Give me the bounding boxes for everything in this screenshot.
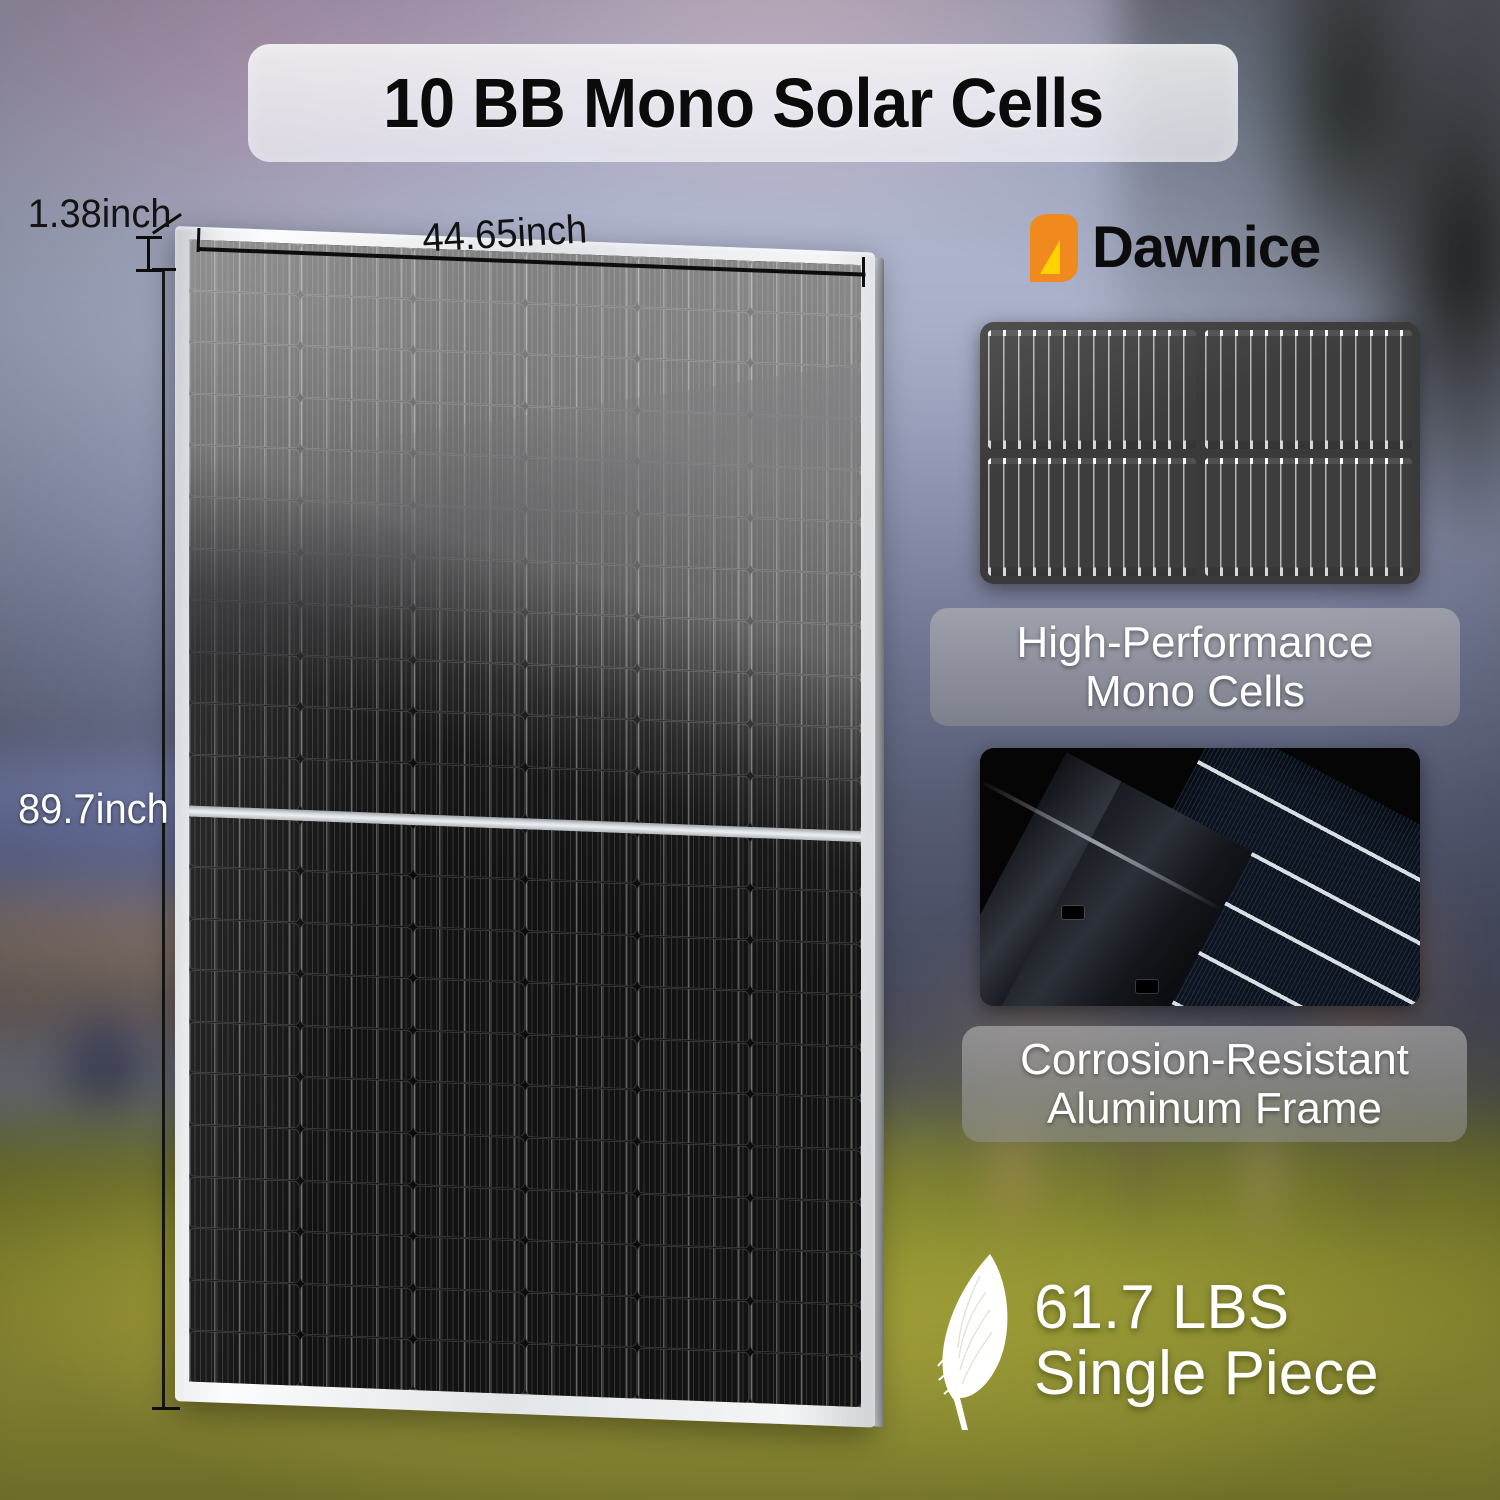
solar-cell [526,984,636,1038]
cell-column [638,833,748,1403]
solar-cell [526,613,636,667]
solar-cell [751,777,861,831]
solar-cell [638,618,748,672]
solar-cell [638,885,748,939]
solar-cell [526,665,636,719]
solar-cell [189,498,299,552]
weight-text: 61.7 LBS Single Piece [1034,1275,1379,1406]
solar-cell [189,816,299,870]
cell-column [414,825,524,1395]
weight-callout: 61.7 LBS Single Piece [928,1248,1379,1434]
aluminum-frame-closeup-icon [980,748,1420,1006]
solar-cell [189,1280,299,1334]
solar-cell [189,1332,299,1386]
solar-cell [301,975,411,1029]
solar-cell [414,825,524,879]
solar-cell [189,755,299,809]
solar-cell [301,502,411,556]
solar-cell [189,549,299,603]
cell-grid-top-half [189,240,861,831]
solar-cell [751,1095,861,1149]
solar-cell [414,1031,524,1085]
cell-column [414,248,524,818]
solar-cell [526,1190,636,1244]
feather-icon [928,1248,1020,1434]
solar-cell [751,674,861,728]
solar-cell [414,351,524,405]
solar-cell [526,1293,636,1347]
solar-cell [638,721,748,775]
cell-column [189,240,299,810]
solar-cell [414,506,524,560]
cell-grid-bottom-half [189,816,861,1407]
solar-cell [414,1341,524,1395]
solar-cell [414,300,524,354]
solar-cell [638,1143,748,1197]
solar-cell [751,1302,861,1356]
solar-cell [526,1035,636,1089]
solar-cell [189,919,299,973]
solar-cell [414,1186,524,1240]
solar-cell [414,928,524,982]
solar-cell [751,992,861,1046]
solar-cell [301,820,411,874]
solar-cell [414,979,524,1033]
thickness-label: 1.38inch [28,192,172,237]
solar-cell [414,876,524,930]
solar-cell [751,1199,861,1253]
solar-cell [189,291,299,345]
solar-cell [526,356,636,410]
solar-cell [751,1044,861,1098]
solar-cell [526,1242,636,1296]
solar-cell [414,454,524,508]
solar-cell [526,1087,636,1141]
solar-cell [751,312,861,366]
solar-cell [751,941,861,995]
solar-cell [414,764,524,818]
solar-cell [526,1345,636,1399]
solar-cell [526,407,636,461]
solar-cell [189,446,299,500]
solar-cell [638,1246,748,1300]
solar-cell [638,1297,748,1351]
solar-cell [189,704,299,758]
cell-column [301,820,411,1390]
solar-cell [751,364,861,418]
solar-cell [751,837,861,891]
solar-cell [189,652,299,706]
solar-cell [526,717,636,771]
cell-column [638,257,748,827]
solar-cell [414,1237,524,1291]
solar-cell [301,1078,411,1132]
solar-cell [301,553,411,607]
solar-cell [301,1027,411,1081]
panel-glass-surface [189,240,861,1408]
solar-cell [751,467,861,521]
solar-cell [414,1134,524,1188]
cell-column [189,816,299,1386]
solar-cell [414,1083,524,1137]
solar-cell [638,515,748,569]
solar-cell [751,519,861,573]
solar-cell [638,566,748,620]
solar-cell [189,343,299,397]
solar-panel [155,226,895,1426]
solar-cell [301,1181,411,1235]
cell-column [751,837,861,1407]
solar-cell [751,1250,861,1304]
height-label: 89.7inch [18,785,169,833]
solar-cell [638,1349,748,1403]
solar-cell [638,936,748,990]
solar-cell [189,601,299,655]
solar-cell [301,1285,411,1339]
solar-cell [751,725,861,779]
solar-cell [638,360,748,414]
panel-aluminum-frame [175,226,875,1428]
solar-cell [301,605,411,659]
solar-cell [301,450,411,504]
solar-cell [414,403,524,457]
solar-cell [189,1126,299,1180]
solar-cell [751,622,861,676]
weight-value: 61.7 LBS [1034,1275,1379,1341]
solar-cell [301,347,411,401]
solar-cell [638,669,748,723]
caption-aluminum-frame: Corrosion-Resistant Aluminum Frame [962,1026,1467,1142]
solar-cell [526,459,636,513]
solar-cell [301,1233,411,1287]
solar-cell [301,399,411,453]
mono-cell-closeup-icon [980,322,1420,584]
solar-cell [301,872,411,926]
solar-cell [638,773,748,827]
solar-cell [638,411,748,465]
solar-cell [301,708,411,762]
brand-name: Dawnice [1092,219,1320,277]
solar-cell [526,829,636,883]
solar-cell [751,1147,861,1201]
solar-cell [638,1039,748,1093]
solar-cell [189,971,299,1025]
solar-cell [526,768,636,822]
solar-cell [526,1138,636,1192]
solar-cell [301,760,411,814]
solar-cell [301,657,411,711]
solar-cell [526,932,636,986]
solar-cell [301,295,411,349]
solar-cell [526,304,636,358]
cell-column [301,244,411,814]
caption-line-2: Aluminum Frame [1047,1084,1382,1133]
solar-cell [189,1022,299,1076]
solar-cell [189,1229,299,1283]
solar-cell [751,1353,861,1407]
cell-column [526,252,636,822]
solar-cell [751,570,861,624]
cell-column [526,829,636,1399]
solar-cell [638,1194,748,1248]
panel-frame-right-edge [874,257,884,1427]
caption-line-1: High-Performance [1016,618,1373,667]
solar-cell [414,609,524,663]
solar-cell [638,988,748,1042]
caption-line-2: Mono Cells [1085,667,1305,716]
thumb-gloss [980,322,1420,584]
solar-cell [301,1130,411,1184]
solar-cell [414,712,524,766]
solar-cell [301,1336,411,1390]
product-infographic: 10 BB Mono Solar Cells 1.38inch 4 [0,0,1500,1500]
solar-cell [301,923,411,977]
brand-logo: Dawnice [1022,212,1320,284]
solar-cell [751,889,861,943]
height-dimension-line [162,268,165,1410]
solar-cell [189,1177,299,1231]
solar-cell [526,510,636,564]
caption-line-1: Corrosion-Resistant [1020,1035,1409,1084]
title-banner: 10 BB Mono Solar Cells [248,44,1238,162]
solar-cell [189,394,299,448]
dawnice-arrow-logo-icon [1022,212,1084,284]
solar-cell [414,661,524,715]
solar-cell [526,880,636,934]
solar-cell [189,868,299,922]
solar-cell [638,1091,748,1145]
caption-mono-cells: High-Performance Mono Cells [930,608,1460,726]
cell-column [751,261,861,831]
page-title: 10 BB Mono Solar Cells [383,68,1104,138]
solar-cell [638,308,748,362]
solar-cell [526,562,636,616]
width-tick-right [862,257,865,287]
thickness-dimension-line [147,238,150,272]
weight-subtitle: Single Piece [1034,1341,1379,1407]
solar-cell [414,558,524,612]
solar-cell [189,1074,299,1128]
solar-cell [751,416,861,470]
width-label: 44.65inch [421,207,588,261]
solar-cell [638,833,748,887]
solar-cell [638,463,748,517]
solar-cell [414,1289,524,1343]
height-tick-bottom [152,1407,180,1410]
height-tick-top [152,268,176,271]
